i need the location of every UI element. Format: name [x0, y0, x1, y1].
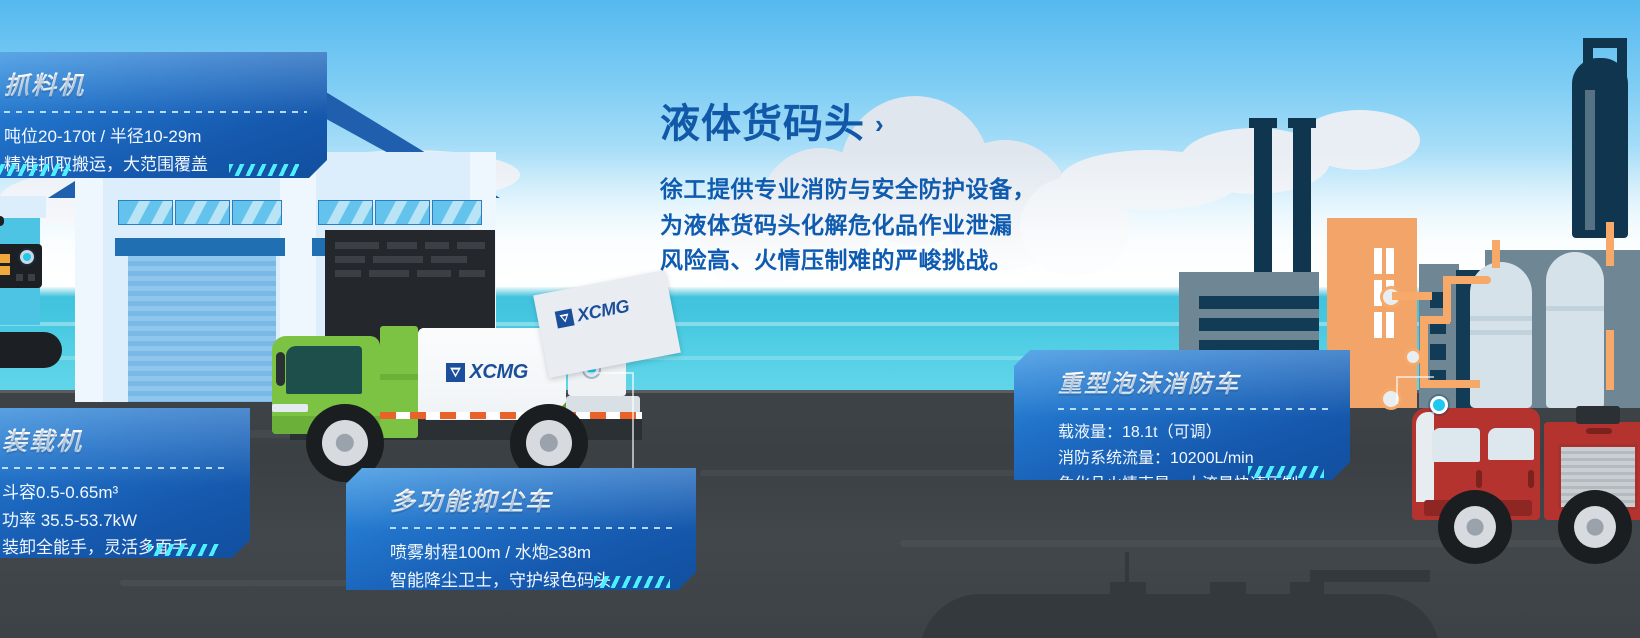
refinery-tower-pipe [1617, 38, 1627, 78]
page-title: 液体货码头 › [660, 104, 885, 144]
pipe-run [1606, 222, 1614, 266]
fire-truck-door-handle [1476, 470, 1482, 488]
card-divider [2, 467, 230, 469]
card-divider [390, 527, 676, 529]
card-spec-line: 斗容0.5-0.65m³ [2, 479, 230, 507]
card-spec-line: 功率 35.5-53.7kW [2, 507, 230, 535]
truck-body-panel [380, 326, 418, 438]
subcopy-line-1: 徐工提供专业消防与安全防护设备， [660, 172, 1036, 208]
info-card-grab-machine[interactable]: 抓料机 吨位20-170t / 半径10-29m 精准抓取搬运，大范围覆盖 [0, 52, 327, 178]
warehouse-shutter-door[interactable] [128, 256, 276, 402]
xcmg-mark-icon [446, 363, 465, 382]
side-building [0, 196, 46, 218]
card-hatch-decoration [1248, 466, 1324, 478]
pipe-valve [1404, 348, 1422, 366]
truck-body-panel-dark [380, 374, 418, 380]
factory-chimney [1293, 124, 1311, 274]
card-title: 重型泡沫消防车 [1058, 364, 1330, 399]
xcmg-triangle-glyph [558, 312, 571, 325]
factory-window [1430, 344, 1446, 360]
refinery-tower [1572, 58, 1628, 238]
storage-tank-band [1546, 306, 1604, 311]
truck-windshield [286, 346, 362, 394]
tower-ladder [1585, 90, 1595, 230]
warehouse-pillar [75, 152, 103, 402]
shutter-header [115, 238, 285, 256]
xcmg-wordmark: XCMG [575, 296, 631, 327]
warehouse-window [118, 200, 173, 225]
fire-truck-hotspot[interactable] [1430, 396, 1448, 414]
xcmg-logo: XCMG [446, 361, 528, 384]
factory-window-band [1199, 318, 1319, 331]
tower-window [1386, 248, 1394, 274]
fire-truck-wheel [1438, 490, 1512, 564]
fire-truck-body-roofbox [1576, 406, 1620, 424]
fire-truck-door-window [1488, 428, 1534, 460]
tower-window [1386, 312, 1394, 338]
tower-window [1374, 248, 1382, 274]
card-hatch-decoration [229, 164, 299, 176]
fire-truck-leader-line [1396, 376, 1434, 404]
tower-window [1374, 312, 1382, 338]
xcmg-logo: XCMG [554, 296, 631, 331]
truck-mirror [276, 352, 285, 386]
factory-chimney-cap [1249, 118, 1277, 128]
card-title: 抓料机 [4, 66, 307, 102]
card-hatch-decoration [594, 576, 670, 588]
storage-tank-band [1470, 330, 1532, 335]
storage-tank-silhouette [920, 594, 1440, 638]
card-spec-line: 载液量：18.1t（可调） [1058, 420, 1330, 446]
fire-truck-roof-handle [1586, 428, 1612, 434]
pipe-run [1606, 330, 1614, 390]
info-card-loader[interactable]: 装载机 斗容0.5-0.65m³ 功率 35.5-53.7kW 装卸全能手，灵活… [0, 408, 250, 558]
storage-tank [1546, 252, 1604, 408]
card-hatch-decoration [148, 544, 220, 556]
grab-machine-hotspot[interactable] [20, 250, 34, 264]
hero-banner: XCMG XCMG [0, 0, 1640, 638]
warehouse-window [232, 200, 282, 225]
fire-truck-wheel [1558, 490, 1632, 564]
xcmg-wordmark: XCMG [469, 361, 527, 384]
dust-truck-leader-line [588, 372, 634, 472]
warehouse-window [175, 200, 230, 225]
warehouse-window [375, 200, 430, 225]
xcmg-triangle-glyph [449, 366, 462, 379]
storage-tank-band [1470, 316, 1532, 321]
info-card-heavy-foam-fire-truck[interactable]: 重型泡沫消防车 载液量：18.1t（可调） 消防系统流量：10200L/min … [1014, 350, 1350, 480]
card-title: 装载机 [2, 422, 230, 458]
factory-window-band [1199, 296, 1319, 309]
subcopy-line-3: 风险高、火情压制难的严峻挑战。 [660, 243, 1036, 279]
truck-bumper [272, 404, 308, 412]
xcmg-mark-icon [555, 309, 575, 329]
subcopy-line-2: 为液体货码头化解危化品作业泄漏 [660, 208, 1036, 244]
info-card-dust-suppression-truck[interactable]: 多功能抑尘车 喷雾射程100m / 水炮≥38m 智能降尘卫士，守护绿色码头 [346, 468, 696, 590]
card-spec-line: 喷雾射程100m / 水炮≥38m [390, 539, 676, 567]
card-hatch-decoration [0, 164, 70, 176]
grab-machine-vehicle[interactable] [0, 222, 66, 332]
headline-text: 液体货码头 [660, 104, 865, 144]
warehouse-window [432, 200, 482, 225]
chevron-right-icon[interactable]: › [875, 111, 885, 137]
headline-subcopy: 徐工提供专业消防与安全防护设备， 为液体货码头化解危化品作业泄漏 风险高、火情压… [660, 172, 1036, 279]
pipe-run [1392, 292, 1432, 300]
card-title: 多功能抑尘车 [390, 482, 676, 518]
card-spec-line: 吨位20-170t / 半径10-29m [4, 123, 307, 151]
card-divider [4, 111, 307, 113]
card-divider [1058, 408, 1330, 410]
pipe-run [1492, 240, 1500, 268]
fire-truck-windshield [1432, 428, 1480, 462]
factory-chimney-cap [1288, 118, 1316, 128]
fire-truck-door-handle [1528, 470, 1534, 488]
warehouse-window [318, 200, 373, 225]
factory-chimney [1254, 124, 1272, 274]
fire-truck[interactable] [1380, 398, 1640, 578]
